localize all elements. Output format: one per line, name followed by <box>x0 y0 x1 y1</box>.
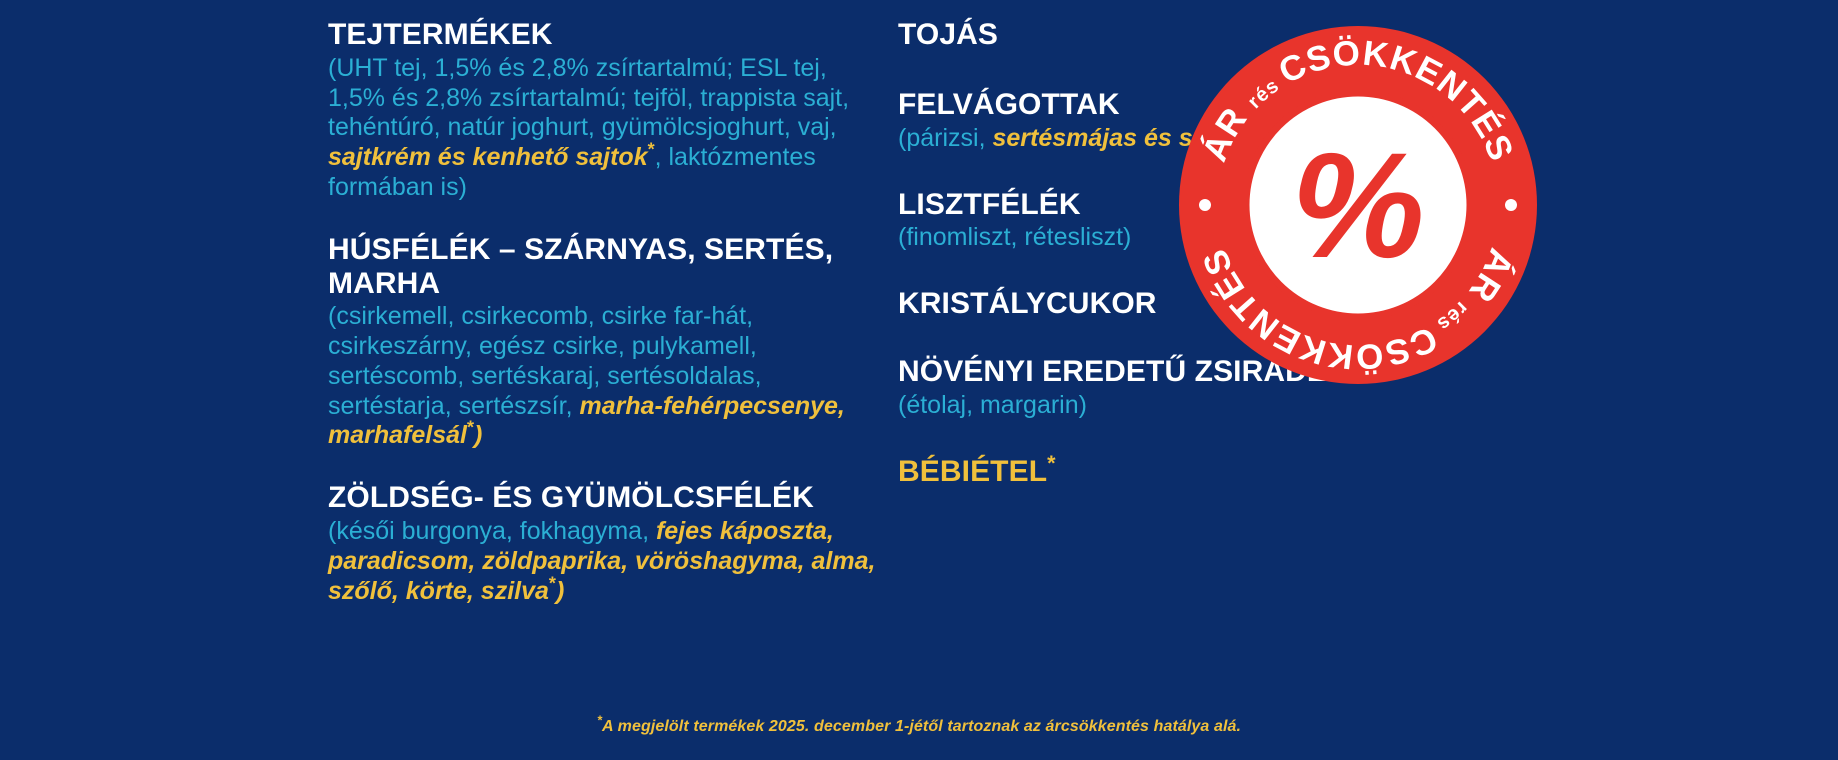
product-detail-text: (étolaj, margarin) <box>898 391 1087 419</box>
highlighted-product-text: ) <box>474 421 482 449</box>
category-heading-zoldseg: ZÖLDSÉG- ÉS GYÜMÖLCSFÉLÉK <box>328 481 888 515</box>
product-category-bebietel: BÉBIÉTEL* <box>898 455 1418 489</box>
asterisk-marker: * <box>549 573 556 593</box>
product-column-left: TEJTERMÉKEK(UHT tej, 1,5% és 2,8% zsírta… <box>328 18 888 606</box>
product-category-husfelek: HÚSFÉLÉK – SZÁRNYAS, SERTÉS, MARHA(csirk… <box>328 233 888 452</box>
footnote-text: A megjelölt termékek 2025. december 1-jé… <box>602 718 1241 735</box>
category-heading-husfelek: HÚSFÉLÉK – SZÁRNYAS, SERTÉS, MARHA <box>328 233 888 301</box>
highlighted-product-text: sajtkrém és kenhető sajtok <box>328 143 648 171</box>
badge-dot-left <box>1199 199 1211 211</box>
category-detail-tejtermekek: (UHT tej, 1,5% és 2,8% zsírtartalmú; ESL… <box>328 54 888 203</box>
category-heading-bebietel: BÉBIÉTEL* <box>898 455 1418 489</box>
category-detail-novenyi: (étolaj, margarin) <box>898 391 1418 421</box>
category-detail-husfelek: (csirkemell, csirkecomb, csirke far-hát,… <box>328 302 888 451</box>
badge-dot-right <box>1505 199 1517 211</box>
footnote: *A megjelölt termékek 2025. december 1-j… <box>0 718 1838 736</box>
asterisk-marker: * <box>467 418 474 438</box>
category-heading-tejtermekek: TEJTERMÉKEK <box>328 18 888 52</box>
arcsokkentes-stamp-badge: % ÁR rés CSÖKKENTÉS ÁR rés CSÖKKENTÉS <box>1175 22 1541 388</box>
highlighted-product-text: ) <box>556 577 564 605</box>
product-detail-text: (párizsi, <box>898 124 992 152</box>
asterisk-marker: * <box>648 140 655 160</box>
percent-icon: % <box>1291 121 1424 289</box>
product-detail-text: (UHT tej, 1,5% és 2,8% zsírtartalmú; ESL… <box>328 54 849 142</box>
category-detail-zoldseg: (késői burgonya, fokhagyma, fejes káposz… <box>328 517 888 606</box>
product-category-tejtermekek: TEJTERMÉKEK(UHT tej, 1,5% és 2,8% zsírta… <box>328 18 888 203</box>
product-detail-text: (késői burgonya, fokhagyma, <box>328 517 656 545</box>
promo-banner: TEJTERMÉKEK(UHT tej, 1,5% és 2,8% zsírta… <box>0 0 1838 760</box>
product-detail-text: (finomliszt, rétesliszt) <box>898 223 1131 251</box>
asterisk-marker: * <box>1047 450 1056 475</box>
product-category-zoldseg: ZÖLDSÉG- ÉS GYÜMÖLCSFÉLÉK(késői burgonya… <box>328 481 888 606</box>
